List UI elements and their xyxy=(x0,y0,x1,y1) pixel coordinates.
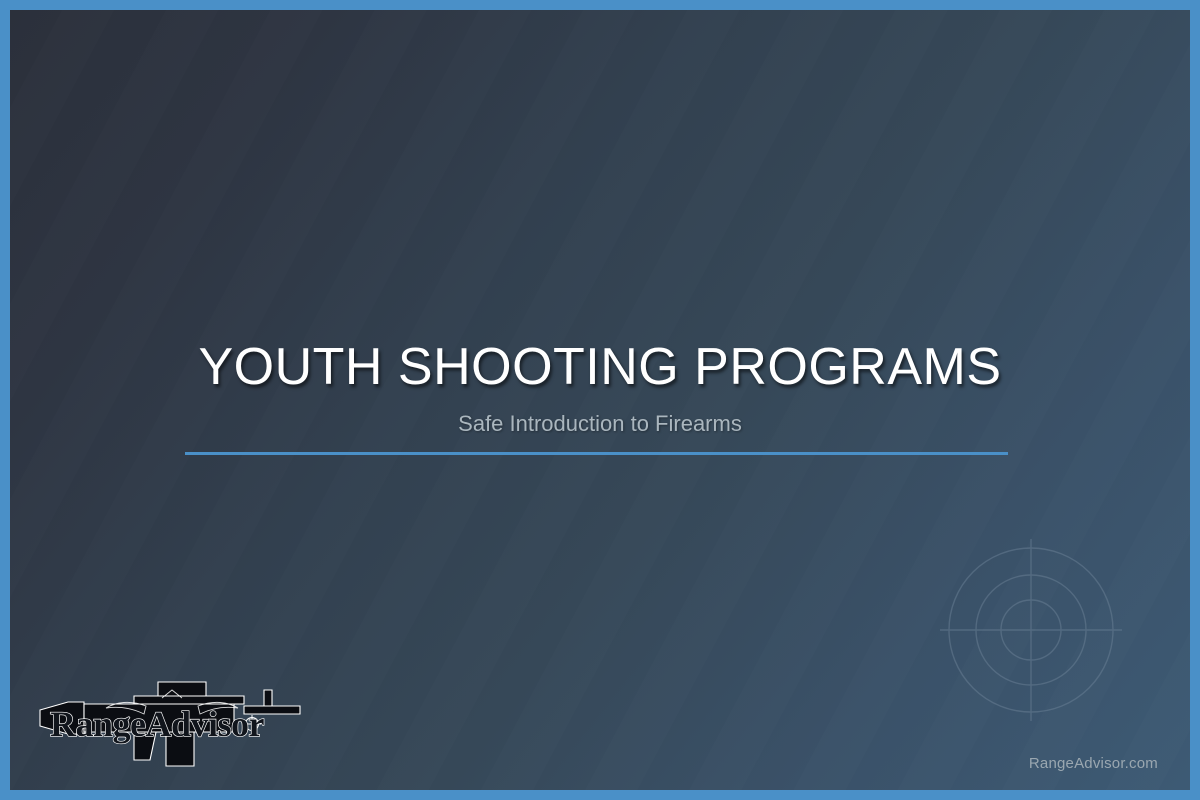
logo-wordmark: RangeAdvisor xyxy=(50,704,265,744)
slide-canvas: YOUTH SHOOTING PROGRAMS Safe Introductio… xyxy=(10,10,1190,790)
page-title: YOUTH SHOOTING PROGRAMS xyxy=(10,340,1190,395)
footer-website-url: RangeAdvisor.com xyxy=(1029,755,1158,772)
title-block: YOUTH SHOOTING PROGRAMS Safe Introductio… xyxy=(10,340,1190,437)
rangeadvisor-logo: RangeAdvisor rifle silhouette logo xyxy=(38,676,310,768)
presentation-slide: YOUTH SHOOTING PROGRAMS Safe Introductio… xyxy=(0,0,1200,800)
crosshair-target-icon xyxy=(936,535,1126,725)
accent-divider xyxy=(185,452,1008,455)
page-subtitle: Safe Introduction to Firearms xyxy=(10,411,1190,437)
